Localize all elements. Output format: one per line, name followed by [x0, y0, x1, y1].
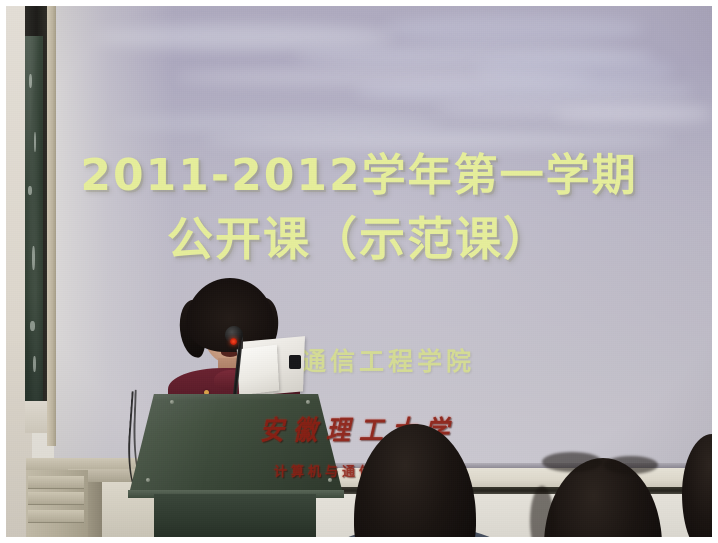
podium-screw — [328, 478, 332, 482]
podium-screw — [306, 400, 310, 404]
podium-front-panel — [128, 394, 344, 498]
desk-drawer — [28, 476, 84, 489]
desk-drawer — [28, 492, 84, 505]
blackboard-frame-light — [47, 6, 56, 446]
podium-screw — [170, 400, 174, 404]
microphone-led-icon — [230, 338, 237, 345]
photo-frame: 2011-2012学年第一学期 公开课（示范课） 机与通信工程学院 — [0, 0, 718, 543]
podium-base — [154, 494, 316, 537]
paper-clip — [289, 355, 301, 369]
podium-screw — [146, 478, 150, 482]
classroom-photo: 2011-2012学年第一学期 公开课（示范课） 机与通信工程学院 — [6, 6, 712, 537]
blackboard — [25, 36, 43, 401]
desk-drawer — [28, 510, 84, 523]
papers-stack-front — [237, 345, 279, 396]
